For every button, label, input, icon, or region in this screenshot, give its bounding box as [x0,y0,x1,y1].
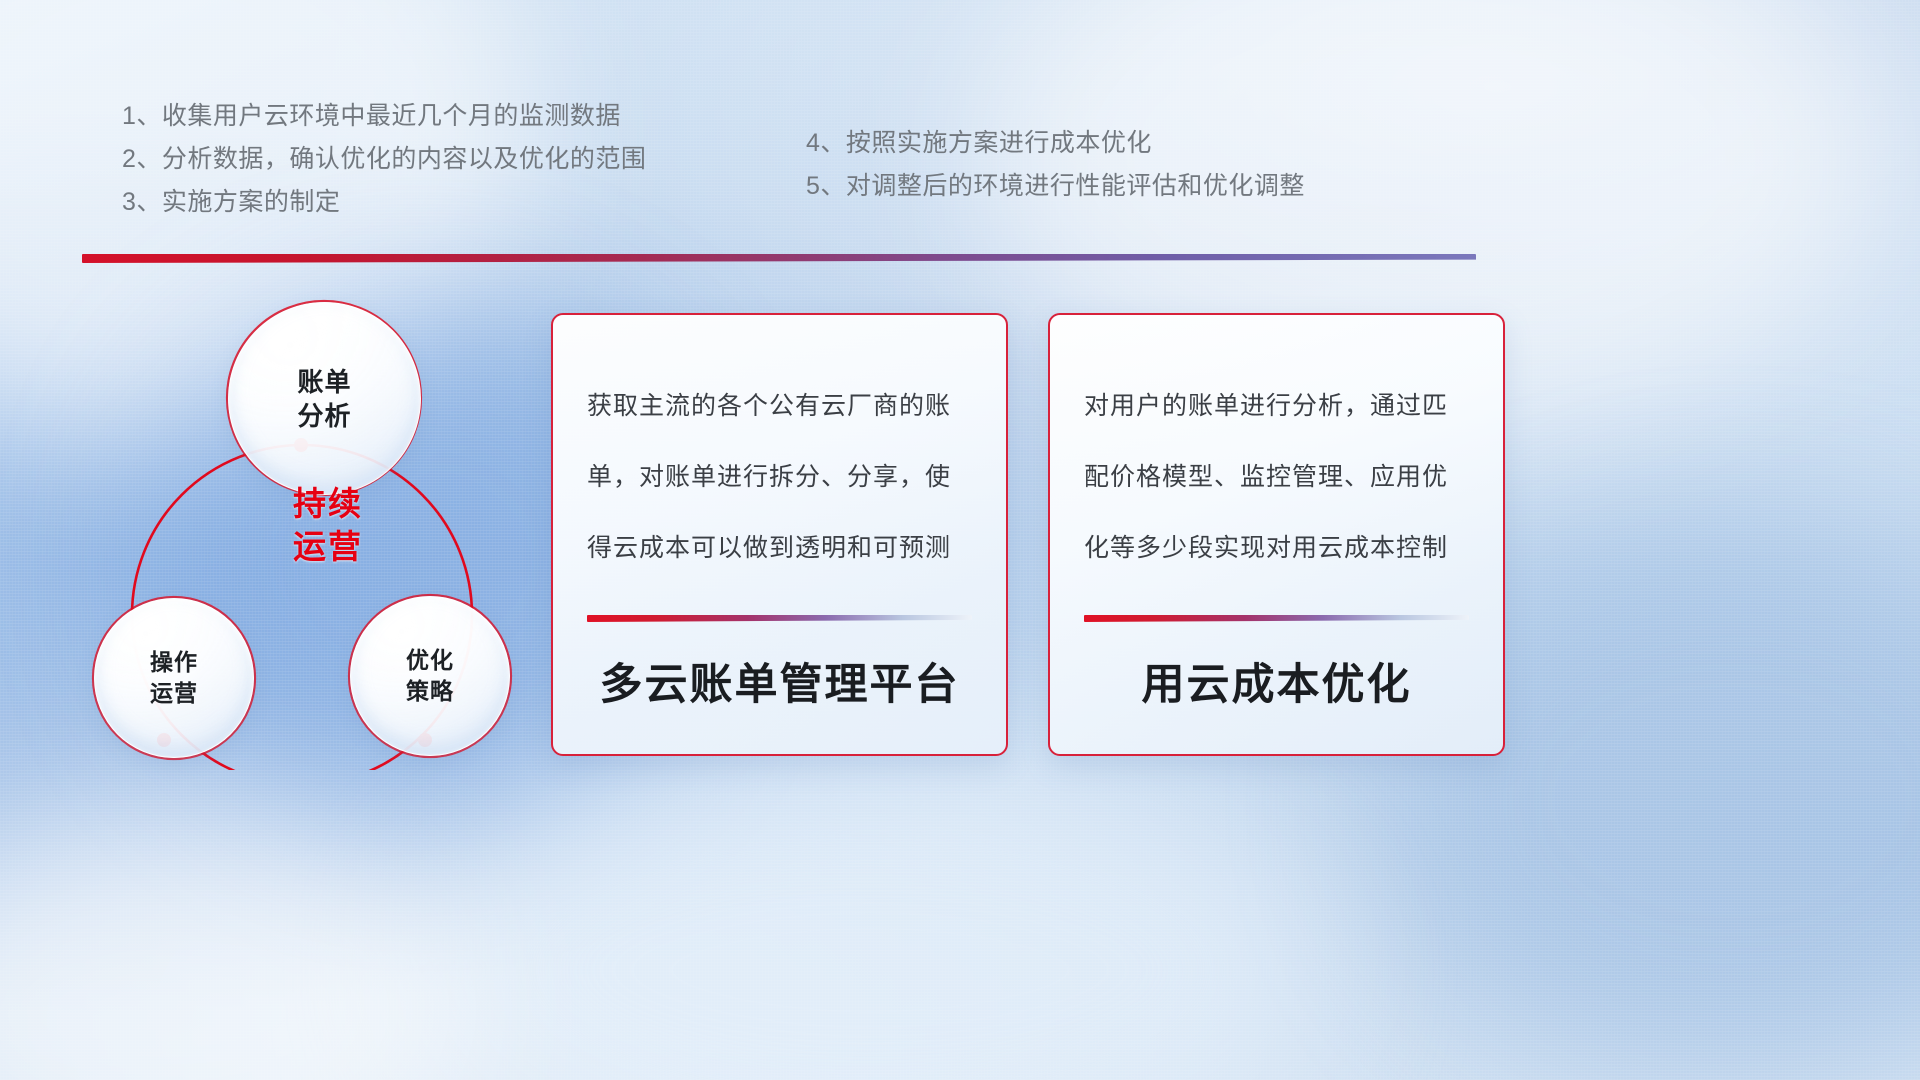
card-multi-cloud-bill-platform[interactable]: 获取主流的各个公有云厂商的账单，对账单进行拆分、分享，使得云成本可以做到透明和可… [551,313,1008,756]
card-cloud-cost-optimization-title: 用云成本优化 [1084,650,1469,712]
card-multi-cloud-bill-platform-body: 获取主流的各个公有云厂商的账单，对账单进行拆分、分享，使得云成本可以做到透明和可… [587,371,972,584]
section-divider-gradient-bar [82,254,1476,263]
background-glow-bottom-center [420,760,1320,1080]
venn-bubble-bill-analysis[interactable]: 账单 分析 [228,302,421,495]
process-steps-left-column: 1、收集用户云环境中最近几个月的监测数据 2、分析数据，确认优化的内容以及优化的… [122,95,822,224]
process-steps-right-column: 4、按照实施方案进行成本优化 5、对调整后的环境进行性能评估和优化调整 [806,122,1526,208]
venn-bubble-operation-ops[interactable]: 操作 运营 [94,598,254,758]
venn-center-label-line2: 运营 [248,525,408,568]
process-step-2: 2、分析数据，确认优化的内容以及优化的范围 [122,138,822,181]
venn-bubble-optimize-strategy[interactable]: 优化 策略 [350,596,510,756]
card-cloud-cost-optimization[interactable]: 对用户的账单进行分析，通过匹配价格模型、监控管理、应用优化等多少段实现对用云成本… [1048,313,1505,756]
venn-bubble-operation-ops-line2: 运营 [150,678,198,709]
continuous-operations-venn-diagram: 账单 分析 操作 运营 优化 策略 持续 运营 [80,290,550,770]
card-cloud-cost-optimization-rule [1084,615,1469,622]
card-multi-cloud-bill-platform-title: 多云账单管理平台 [587,650,972,712]
card-multi-cloud-bill-platform-rule [587,615,972,622]
card-cloud-cost-optimization-body: 对用户的账单进行分析，通过匹配价格模型、监控管理、应用优化等多少段实现对用云成本… [1084,371,1469,584]
process-step-5: 5、对调整后的环境进行性能评估和优化调整 [806,165,1526,208]
venn-bubble-optimize-strategy-line1: 优化 [406,645,454,676]
venn-center-label: 持续 运营 [248,482,408,568]
venn-bubble-operation-ops-line1: 操作 [150,647,198,678]
section-divider-rule [82,254,1476,263]
venn-center-label-line1: 持续 [248,482,408,525]
process-step-1: 1、收集用户云环境中最近几个月的监测数据 [122,95,822,138]
venn-bubble-bill-analysis-line2: 分析 [297,399,351,433]
venn-bubble-bill-analysis-line1: 账单 [297,365,351,399]
background-glow-bottom-left [0,820,480,1080]
venn-bubble-optimize-strategy-line2: 策略 [406,676,454,707]
process-step-4: 4、按照实施方案进行成本优化 [806,122,1526,165]
process-step-3: 3、实施方案的制定 [122,181,822,224]
